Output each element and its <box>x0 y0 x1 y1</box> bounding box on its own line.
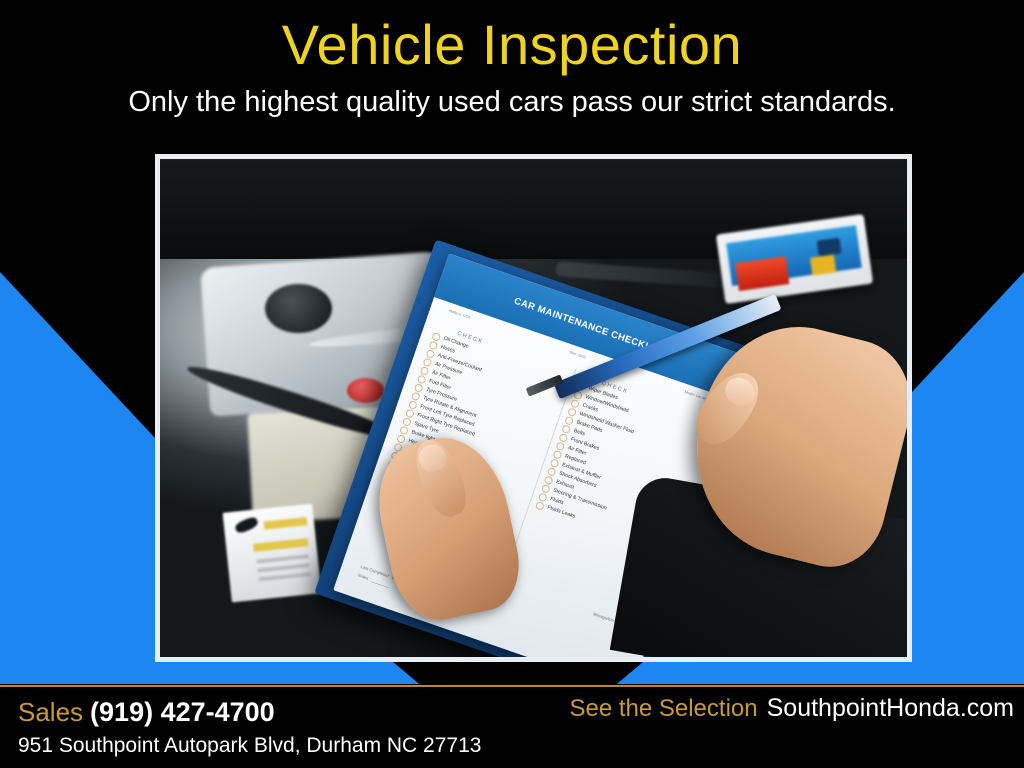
header: Vehicle Inspection Only the highest qual… <box>0 0 1024 150</box>
band-notch <box>393 662 643 685</box>
sales-label: Sales <box>18 697 83 727</box>
reservoir-red-cap <box>347 378 384 403</box>
sales-contact-line: Sales(919) 427-4700 <box>18 697 275 728</box>
gold-divider-rule <box>0 685 1024 687</box>
dealership-address: 951 Southpoint Autopark Blvd, Durham NC … <box>18 734 481 758</box>
see-the-selection-label: See the Selection <box>569 695 757 722</box>
hero-photo: CAR MAINTENANCE CHECKLIST Made in: USA Y… <box>160 159 907 657</box>
hero-photo-frame: CAR MAINTENANCE CHECKLIST Made in: USA Y… <box>155 154 912 662</box>
page-title: Vehicle Inspection <box>0 14 1024 76</box>
service-hang-tag <box>223 503 322 602</box>
website-url[interactable]: SouthpointHonda.com <box>767 694 1014 722</box>
website-line: See the SelectionSouthpointHonda.com <box>569 694 1014 723</box>
page-subtitle: Only the highest quality used cars pass … <box>0 86 1024 119</box>
footer: Sales(919) 427-4700 951 Southpoint Autop… <box>0 688 1024 768</box>
checkbox-circle-icon[interactable] <box>431 331 441 341</box>
meta-made-in: Made in: USA <box>448 308 470 319</box>
ad-creative: Vehicle Inspection Only the highest qual… <box>0 0 1024 768</box>
meta-year: Year: 2023 <box>568 349 586 358</box>
sales-phone-number[interactable]: (919) 427-4700 <box>90 697 275 727</box>
oil-cap <box>265 284 332 334</box>
checklist-item-label: Belts <box>573 428 586 437</box>
